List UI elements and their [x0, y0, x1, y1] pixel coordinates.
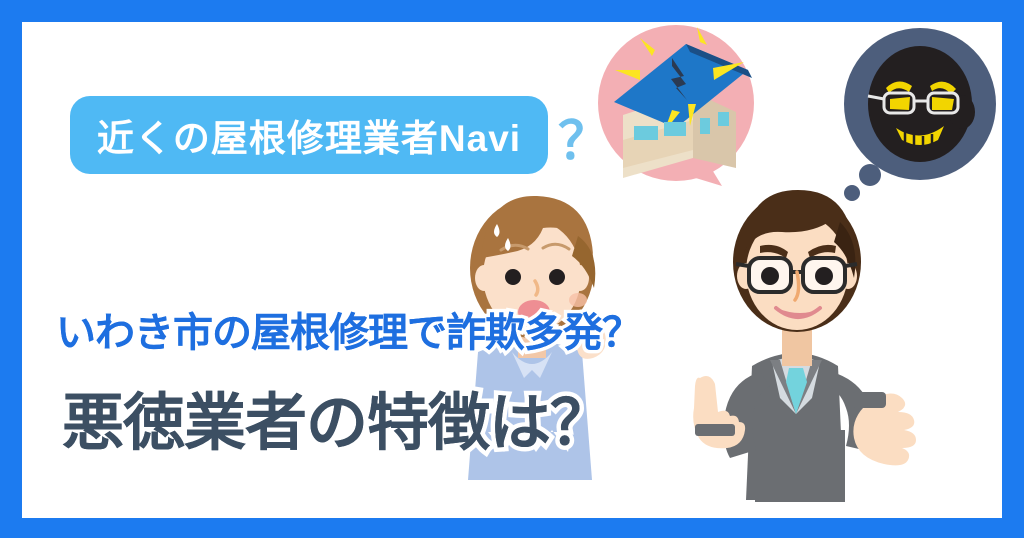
site-badge[interactable]: 近くの屋根修理業者Navi: [70, 96, 548, 174]
question-mark-decor: ？: [558, 116, 610, 168]
headline-main-title: 悪徳業者の特徴は？: [62, 372, 611, 462]
site-badge-label: 近くの屋根修理業者Navi: [97, 108, 521, 162]
banner-canvas: 近くの屋根修理業者Navi ？ いわき市の屋根修理で詐欺多発？ いわき市の屋根修…: [0, 0, 1024, 538]
headline-subtitle: いわき市の屋根修理で詐欺多発？: [56, 300, 641, 358]
